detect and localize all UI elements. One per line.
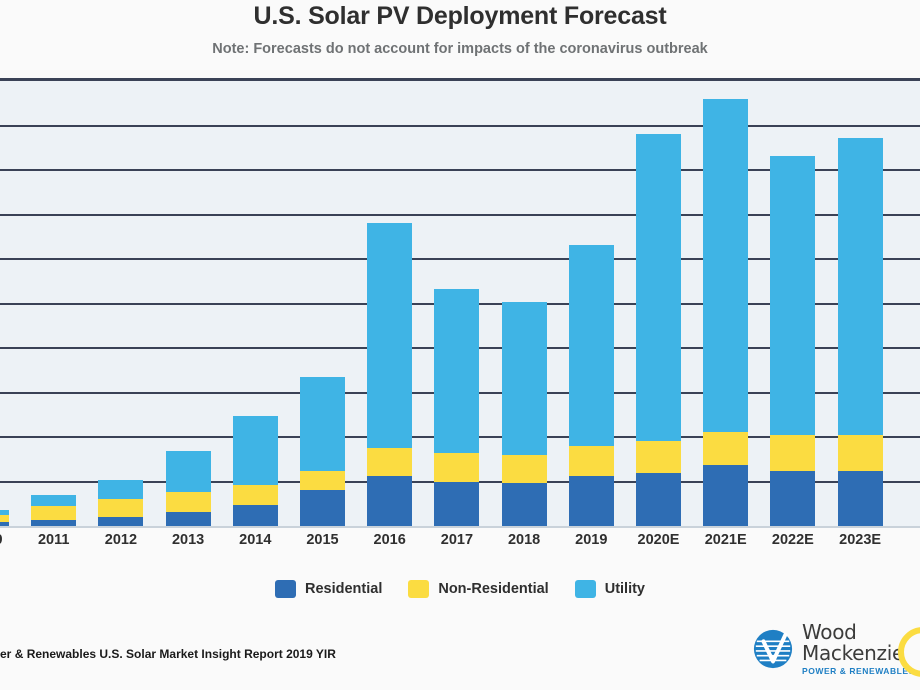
bar-segment-uti: [98, 480, 143, 500]
x-axis-label-2014: 2014: [222, 532, 289, 548]
bar-segment-non: [838, 435, 883, 471]
x-axis-label-2017: 2017: [423, 532, 490, 548]
x-axis: 2010201120122013201420152016201720182019…: [0, 523, 920, 563]
bar-segment-non: [636, 441, 681, 473]
bar-segment-uti: [703, 99, 748, 432]
bar-segment-res: [367, 476, 412, 526]
gridline: [0, 125, 920, 127]
bar-segment-uti: [636, 134, 681, 440]
bar-segment-res: [838, 471, 883, 526]
bar-segment-uti: [502, 302, 547, 455]
bar-segment-uti: [31, 495, 76, 506]
x-axis-label-2018: 2018: [491, 532, 558, 548]
plot-area: [0, 78, 920, 526]
bar-segment-non: [31, 506, 76, 520]
bar-2018: [502, 302, 547, 526]
bar-segment-non: [703, 432, 748, 466]
bar-segment-uti: [367, 223, 412, 447]
page-title: U.S. Solar PV Deployment Forecast: [0, 2, 920, 31]
x-axis-label-2011: 2011: [20, 532, 87, 548]
bar-segment-uti: [569, 245, 614, 446]
bar-segment-uti: [300, 377, 345, 471]
x-axis-label-2016: 2016: [356, 532, 423, 548]
bar-2022E: [770, 156, 815, 526]
x-axis-label-2020E: 2020E: [625, 532, 692, 548]
bar-2012: [98, 480, 143, 526]
bar-2014: [233, 416, 278, 526]
bar-2017: [434, 289, 479, 526]
x-axis-label-2013: 2013: [155, 532, 222, 548]
seia-logo-partial: S: [898, 626, 920, 678]
bar-2023E: [838, 138, 883, 526]
bar-2015: [300, 377, 345, 527]
bar-segment-non: [98, 499, 143, 517]
bar-segment-non: [502, 455, 547, 483]
x-axis-label-2023E: 2023E: [827, 532, 894, 548]
legend-item-residential[interactable]: Residential: [275, 580, 382, 598]
bar-segment-res: [569, 476, 614, 526]
bar-segment-uti: [434, 289, 479, 453]
bar-2016: [367, 223, 412, 526]
chart-page: U.S. Solar PV Deployment Forecast Note: …: [0, 0, 920, 690]
x-axis-label-2021E: 2021E: [692, 532, 759, 548]
x-axis-label-2012: 2012: [87, 532, 154, 548]
bar-segment-uti: [233, 416, 278, 485]
x-axis-label-2015: 2015: [289, 532, 356, 548]
legend-label: Non-Residential: [438, 581, 548, 597]
chart-legend: ResidentialNon-ResidentialUtility: [0, 580, 920, 598]
legend-swatch-icon: [408, 580, 429, 598]
bar-segment-res: [502, 483, 547, 526]
legend-item-utility[interactable]: Utility: [575, 580, 645, 598]
chart-subtitle-note: Note: Forecasts do not account for impac…: [0, 41, 920, 57]
bar-segment-res: [703, 465, 748, 526]
bar-segment-non: [367, 448, 412, 476]
source-caption: ie Power & Renewables U.S. Solar Market …: [0, 647, 336, 661]
wood-mackenzie-logo: Wood Mackenzie POWER & RENEWABLES: [752, 622, 915, 676]
x-axis-label-2022E: 2022E: [759, 532, 826, 548]
legend-label: Residential: [305, 581, 382, 597]
legend-item-non-residential[interactable]: Non-Residential: [408, 580, 548, 598]
bar-segment-non: [300, 471, 345, 491]
bar-segment-res: [434, 482, 479, 527]
wood-mackenzie-mark-icon: [752, 628, 794, 670]
bar-segment-non: [166, 492, 211, 512]
bar-segment-non: [770, 435, 815, 471]
bar-2019: [569, 245, 614, 526]
bar-2020E: [636, 134, 681, 526]
bar-segment-non: [434, 453, 479, 481]
bar-segment-non: [233, 485, 278, 505]
bar-segment-uti: [838, 138, 883, 435]
bar-2013: [166, 451, 211, 526]
bar-segment-res: [636, 473, 681, 526]
bar-2011: [31, 495, 76, 526]
legend-swatch-icon: [275, 580, 296, 598]
x-axis-label-2010: 2010: [0, 532, 20, 548]
bar-2021E: [703, 99, 748, 526]
bar-segment-res: [300, 490, 345, 526]
bar-segment-uti: [166, 451, 211, 492]
bar-segment-res: [770, 471, 815, 526]
legend-label: Utility: [605, 581, 645, 597]
bar-segment-non: [569, 446, 614, 476]
legend-swatch-icon: [575, 580, 596, 598]
bar-segment-uti: [770, 156, 815, 435]
x-axis-label-2019: 2019: [558, 532, 625, 548]
